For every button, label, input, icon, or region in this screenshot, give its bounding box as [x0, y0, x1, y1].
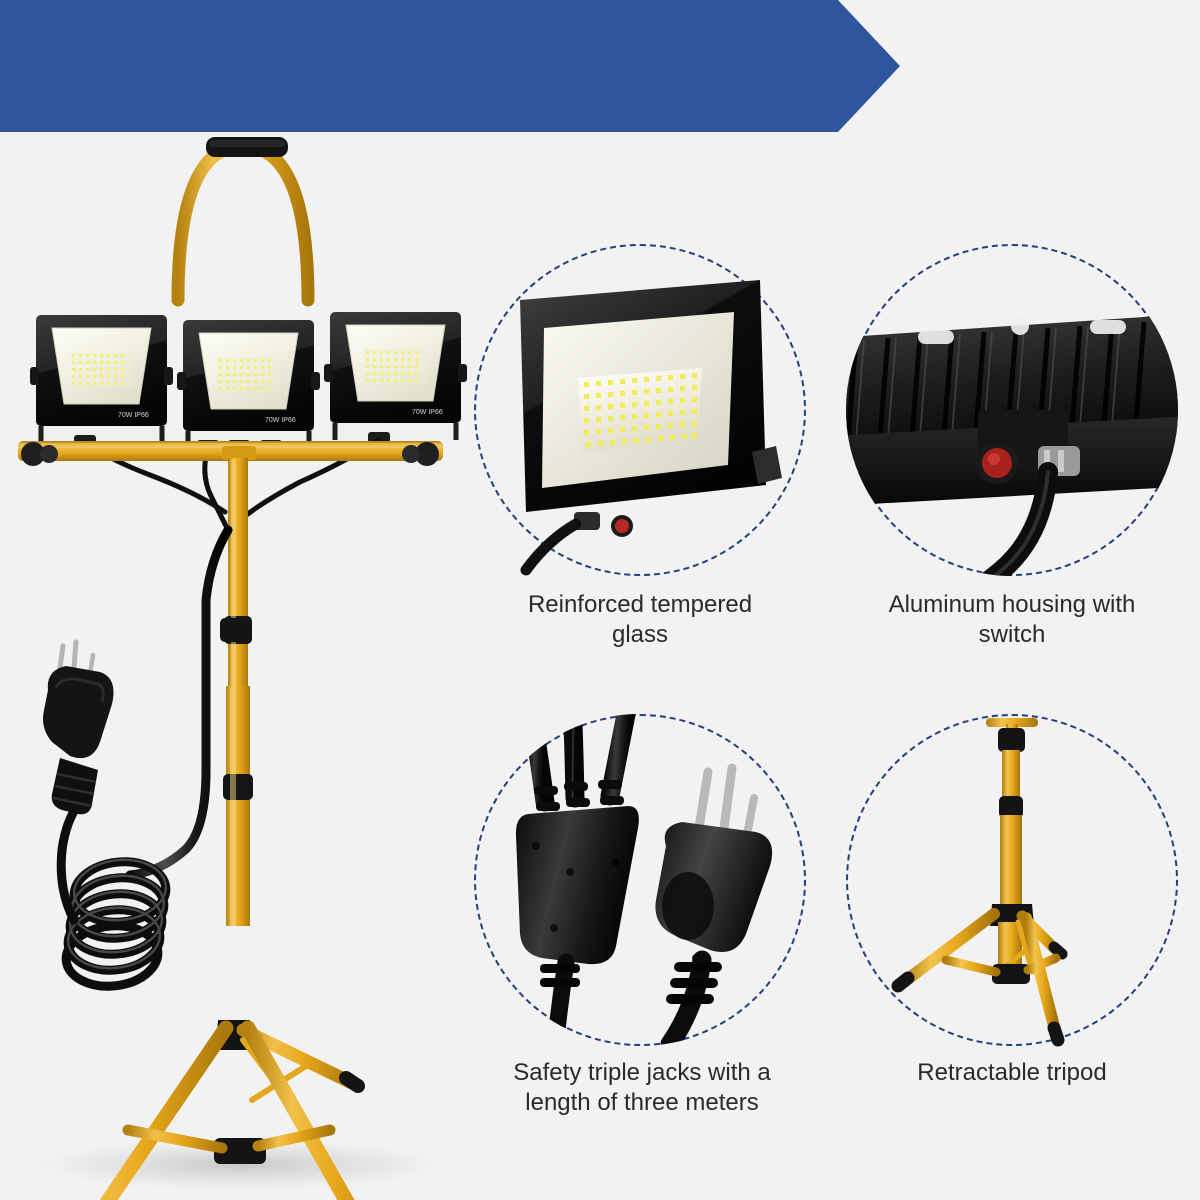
led-beads-middle: [217, 357, 279, 392]
feature-art-triple-jacks: [470, 710, 810, 1050]
feature-caption-retractable-tripod: Retractable tripod: [872, 1058, 1152, 1088]
tripod-collar-top: [998, 728, 1025, 752]
feature-art-retractable-tripod: [842, 710, 1182, 1050]
lamp-rating-middle: 70W IP66: [265, 417, 296, 424]
led-beads-right: [364, 349, 426, 384]
mount-hole-center: [1011, 317, 1029, 335]
lamp-head-middle: 70W IP66: [177, 320, 320, 451]
tripod-foot-back: [346, 1078, 358, 1086]
carry-handle: [178, 137, 308, 300]
lamp-head-right: 70W IP66: [324, 312, 467, 443]
mount-slot-right: [1090, 320, 1126, 334]
feature-caption-triple-jacks: Safety triple jacks with a length of thr…: [494, 1058, 790, 1118]
header-banner: [0, 0, 900, 132]
mount-slot-left: [918, 330, 954, 344]
infographic-canvas: RUGGED QUALITY Each lamp head is equippe…: [0, 0, 1200, 1200]
feature-art-tempered-glass: 70W IP66: [470, 240, 810, 580]
triple-splitter-body: [516, 806, 639, 964]
hero-product-image: 70W IP66 70W IP66: [0, 130, 470, 1200]
red-switch: [615, 519, 629, 533]
feature-caption-tempered-glass: Reinforced tempered glass: [500, 590, 780, 650]
tripod-foot-right: [1054, 1028, 1058, 1040]
tripod-collar-mid: [999, 796, 1023, 818]
three-prong-plug: [43, 642, 114, 814]
three-prong-plug: [655, 768, 772, 1044]
plug-thumb-grip: [662, 872, 714, 940]
feature-caption-aluminum-housing: Aluminum housing with switch: [872, 590, 1152, 650]
led-beads-left: [70, 352, 132, 387]
tripod-foot-left: [898, 978, 908, 986]
power-cable: [526, 524, 576, 570]
lamp-head-left: 70W IP66: [30, 315, 173, 446]
power-cord: [61, 530, 250, 991]
lamp-rating-left: 70W IP66: [118, 412, 149, 419]
feature-art-aluminum-housing: [842, 240, 1182, 580]
pole-collar-lower: [223, 774, 253, 800]
floodlight-rating-label: 70W IP66: [656, 513, 722, 530]
lamp-rating-right: 70W IP66: [412, 409, 443, 416]
